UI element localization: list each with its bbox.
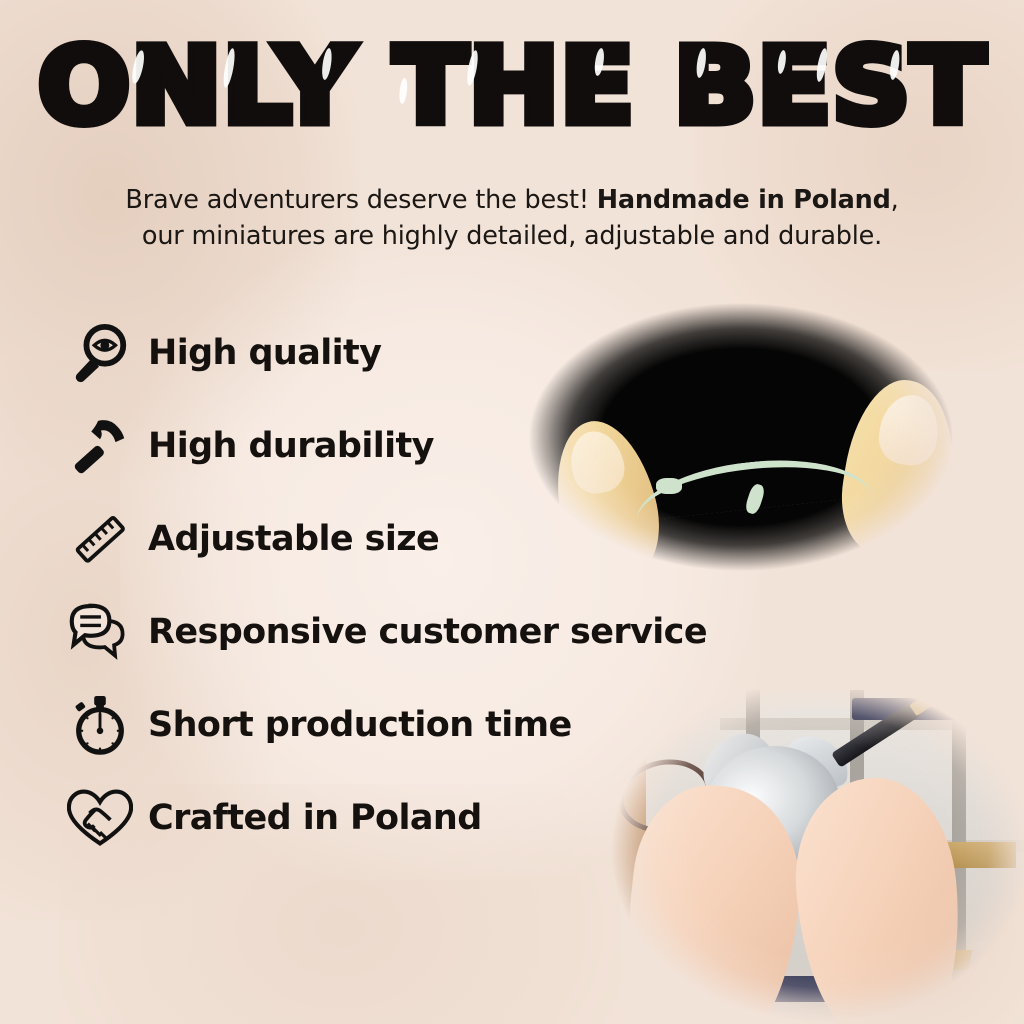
subtitle-highlight: Handmade in Poland [597,185,891,215]
miniature-part-nub [656,478,682,494]
workshop-painting-photo [600,690,1024,1024]
subtitle: Brave adventurers deserve the best! Hand… [0,182,1024,254]
feature-label: Responsive customer service [148,612,707,652]
speech-bubbles-icon [62,594,138,670]
promo-poster: ONLY THE BEST Brave adventurers deserve … [0,0,1024,1024]
small-miniature [970,942,992,984]
fingernail [875,391,943,469]
feature-label: Crafted in Poland [148,798,482,838]
subtitle-comma: , [891,185,899,215]
magnifier-eye-icon [62,315,138,391]
feature-label: Adjustable size [148,519,439,559]
heart-handshake-icon [62,780,138,856]
feature-label: Short production time [148,705,572,745]
flexible-miniature-photo [506,282,976,592]
feature-label: High quality [148,333,381,373]
subtitle-lead: Brave adventurers deserve the best! [125,185,588,215]
feature-item: Responsive customer service [62,585,762,678]
page-title: ONLY THE BEST [0,34,1024,138]
hammer-icon [62,408,138,484]
ruler-icon [62,501,138,577]
fingernail [564,426,629,499]
subtitle-line-1: Brave adventurers deserve the best! Hand… [0,182,1024,218]
stopwatch-icon [62,687,138,763]
subtitle-line-2: our miniatures are highly detailed, adju… [0,218,1024,254]
feature-label: High durability [148,426,434,466]
